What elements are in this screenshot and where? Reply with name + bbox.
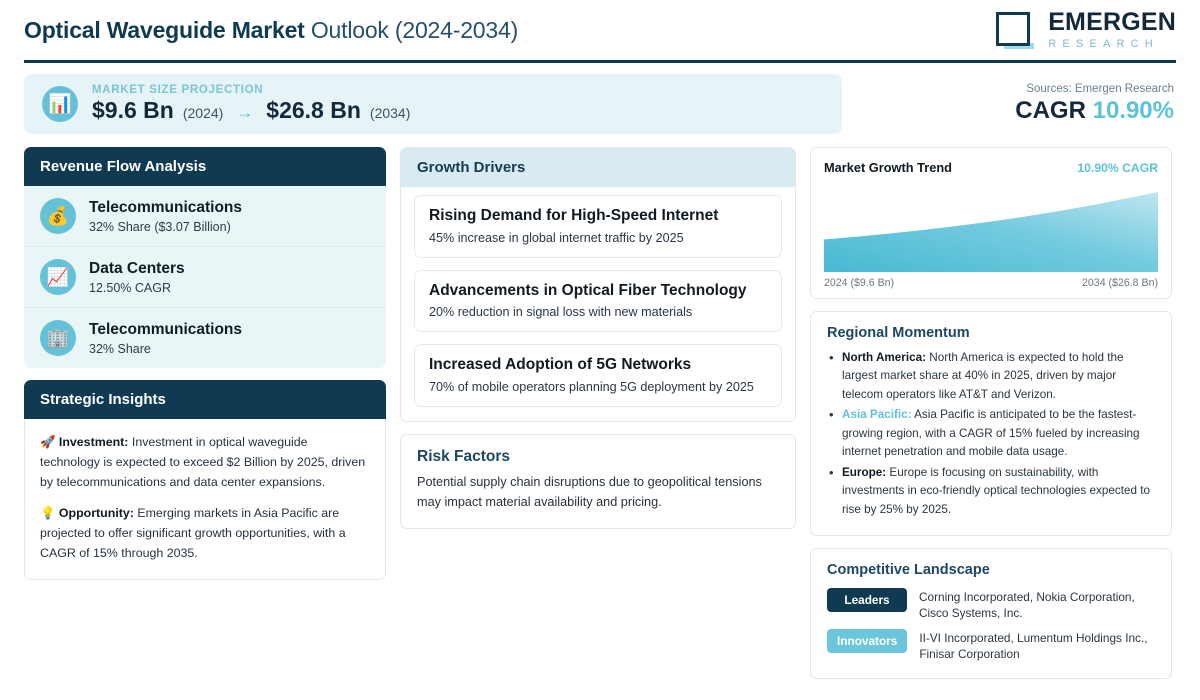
list-item-meta: 32% Share ($3.07 Billion) bbox=[89, 220, 242, 234]
money-bag-icon: 💰 bbox=[40, 198, 76, 234]
sources-text: Sources: Emergen Research bbox=[1015, 83, 1174, 95]
page-title: Optical Waveguide Market Outlook (2024-2… bbox=[24, 17, 518, 44]
revenue-flow-list: 💰 Telecommunications 32% Share ($3.07 Bi… bbox=[24, 186, 386, 368]
chart-title: Market Growth Trend bbox=[824, 160, 952, 175]
chart-cagr-annotation: 10.90% CAGR bbox=[1077, 161, 1158, 175]
infographic-page: Optical Waveguide Market Outlook (2024-2… bbox=[0, 0, 1200, 700]
company-list: Corning Incorporated, Nokia Corporation,… bbox=[919, 588, 1155, 622]
company-list: II-VI Incorporated, Lumentum Holdings In… bbox=[919, 629, 1155, 663]
insight-paragraph: 💡 Opportunity: Emerging markets in Asia … bbox=[40, 503, 370, 563]
list-item-name: Data Centers bbox=[89, 259, 185, 278]
list-item-meta: 12.50% CAGR bbox=[89, 281, 185, 295]
chart-increasing-icon: 📈 bbox=[40, 259, 76, 295]
growth-driver-card[interactable]: Increased Adoption of 5G Networks 70% of… bbox=[414, 344, 782, 407]
list-item[interactable]: 📈 Data Centers 12.50% CAGR bbox=[24, 247, 386, 308]
competitive-landscape-panel: Competitive Landscape Leaders Corning In… bbox=[810, 548, 1172, 679]
banner-figures: $9.6 Bn (2024) → $26.8 Bn (2034) bbox=[92, 97, 410, 124]
cagr-block: Sources: Emergen Research CAGR 10.90% bbox=[1015, 83, 1176, 125]
page-title-strong: Optical Waveguide Market bbox=[24, 17, 305, 43]
cagr-headline: CAGR 10.90% bbox=[1015, 97, 1174, 125]
strategic-insights-panel: Strategic Insights 🚀 Investment: Investm… bbox=[24, 380, 386, 580]
list-item-name: Telecommunications bbox=[89, 198, 242, 217]
office-building-icon: 🏢 bbox=[40, 320, 76, 356]
revenue-flow-heading: Revenue Flow Analysis bbox=[24, 147, 386, 186]
middle-column: Growth Drivers Rising Demand for High-Sp… bbox=[400, 147, 796, 529]
region-text: Europe is focusing on sustainability, wi… bbox=[842, 466, 1150, 516]
logo-square-icon bbox=[994, 10, 1038, 50]
list-item-name: Telecommunications bbox=[89, 320, 242, 339]
insight-label: Opportunity: bbox=[59, 506, 134, 520]
growth-driver-title: Advancements in Optical Fiber Technology bbox=[429, 282, 767, 301]
chart-tick-end: 2034 ($26.8 Bn) bbox=[1082, 277, 1158, 289]
logo-wordmark: EMERGEN RESEARCH bbox=[1048, 10, 1176, 50]
brand-logo: EMERGEN RESEARCH bbox=[994, 10, 1176, 50]
end-value: $26.8 Bn bbox=[266, 97, 361, 124]
region-label: Asia Pacific: bbox=[842, 408, 912, 421]
rocket-icon: 🚀 bbox=[40, 435, 55, 449]
region-label: Europe: bbox=[842, 466, 886, 479]
market-size-banner: 📊 MARKET SIZE PROJECTION $9.6 Bn (2024) … bbox=[24, 74, 842, 134]
table-row: Leaders Corning Incorporated, Nokia Corp… bbox=[827, 588, 1155, 622]
content-columns: Revenue Flow Analysis 💰 Telecommunicatio… bbox=[24, 147, 1176, 679]
regional-momentum-list: North America: North America is expected… bbox=[827, 349, 1155, 519]
chart-axis-labels: 2024 ($9.6 Bn) 2034 ($26.8 Bn) bbox=[824, 270, 1158, 289]
strategic-insights-body: 🚀 Investment: Investment in optical wave… bbox=[24, 419, 386, 580]
list-item: Asia Pacific: Asia Pacific is anticipate… bbox=[827, 406, 1155, 461]
cagr-value: 10.90% bbox=[1093, 97, 1174, 124]
page-header: Optical Waveguide Market Outlook (2024-2… bbox=[24, 0, 1176, 63]
end-year: (2034) bbox=[370, 105, 410, 121]
list-item[interactable]: 💰 Telecommunications 32% Share ($3.07 Bi… bbox=[24, 186, 386, 247]
summary-banner-row: 📊 MARKET SIZE PROJECTION $9.6 Bn (2024) … bbox=[24, 74, 1176, 134]
page-title-light: Outlook (2024-2034) bbox=[311, 17, 518, 43]
growth-driver-title: Increased Adoption of 5G Networks bbox=[429, 356, 767, 375]
region-label: North America: bbox=[842, 351, 926, 364]
arrow-right-icon: → bbox=[236, 103, 253, 123]
competitive-landscape-heading: Competitive Landscape bbox=[827, 562, 1155, 578]
status-badge: Leaders bbox=[827, 588, 907, 612]
right-column: Market Growth Trend 10.90% CAGR 2024 ($9 bbox=[810, 147, 1172, 679]
market-growth-chart-panel: Market Growth Trend 10.90% CAGR 2024 ($9 bbox=[810, 147, 1172, 299]
revenue-flow-panel: Revenue Flow Analysis 💰 Telecommunicatio… bbox=[24, 147, 386, 368]
growth-driver-card[interactable]: Rising Demand for High-Speed Internet 45… bbox=[414, 195, 782, 258]
strategic-insights-heading: Strategic Insights bbox=[24, 380, 386, 419]
chart-tick-start: 2024 ($9.6 Bn) bbox=[824, 277, 894, 289]
logo-name: EMERGEN bbox=[1048, 10, 1176, 35]
start-year: (2024) bbox=[183, 105, 223, 121]
risk-factors-heading: Risk Factors bbox=[417, 448, 779, 466]
list-item: North America: North America is expected… bbox=[827, 349, 1155, 404]
left-column: Revenue Flow Analysis 💰 Telecommunicatio… bbox=[24, 147, 386, 580]
growth-driver-sub: 20% reduction in signal loss with new ma… bbox=[429, 305, 767, 319]
logo-subtitle: RESEARCH bbox=[1048, 39, 1176, 50]
growth-driver-sub: 70% of mobile operators planning 5G depl… bbox=[429, 380, 767, 394]
bar-chart-icon: 📊 bbox=[42, 86, 78, 122]
start-value: $9.6 Bn bbox=[92, 97, 174, 124]
list-item-meta: 32% Share bbox=[89, 342, 242, 356]
lightbulb-icon: 💡 bbox=[40, 506, 55, 520]
growth-driver-card[interactable]: Advancements in Optical Fiber Technology… bbox=[414, 270, 782, 333]
growth-area-chart bbox=[824, 184, 1158, 272]
insight-paragraph: 🚀 Investment: Investment in optical wave… bbox=[40, 432, 370, 492]
growth-driver-title: Rising Demand for High-Speed Internet bbox=[429, 207, 767, 226]
insight-label: Investment: bbox=[59, 435, 129, 449]
growth-driver-sub: 45% increase in global internet traffic … bbox=[429, 231, 767, 245]
growth-drivers-list: Rising Demand for High-Speed Internet 45… bbox=[401, 187, 795, 421]
chart-header: Market Growth Trend 10.90% CAGR bbox=[824, 160, 1158, 175]
growth-drivers-panel: Growth Drivers Rising Demand for High-Sp… bbox=[400, 147, 796, 422]
banner-label: MARKET SIZE PROJECTION bbox=[92, 84, 410, 96]
list-item: Europe: Europe is focusing on sustainabi… bbox=[827, 464, 1155, 519]
regional-momentum-heading: Regional Momentum bbox=[827, 325, 1155, 341]
status-badge: Innovators bbox=[827, 629, 907, 653]
growth-drivers-heading: Growth Drivers bbox=[401, 148, 795, 187]
cagr-label: CAGR bbox=[1015, 97, 1086, 124]
regional-momentum-panel: Regional Momentum North America: North A… bbox=[810, 311, 1172, 536]
risk-factors-panel: Risk Factors Potential supply chain disr… bbox=[400, 434, 796, 530]
list-item[interactable]: 🏢 Telecommunications 32% Share bbox=[24, 308, 386, 368]
risk-factors-text: Potential supply chain disruptions due t… bbox=[417, 472, 779, 513]
table-row: Innovators II-VI Incorporated, Lumentum … bbox=[827, 629, 1155, 663]
